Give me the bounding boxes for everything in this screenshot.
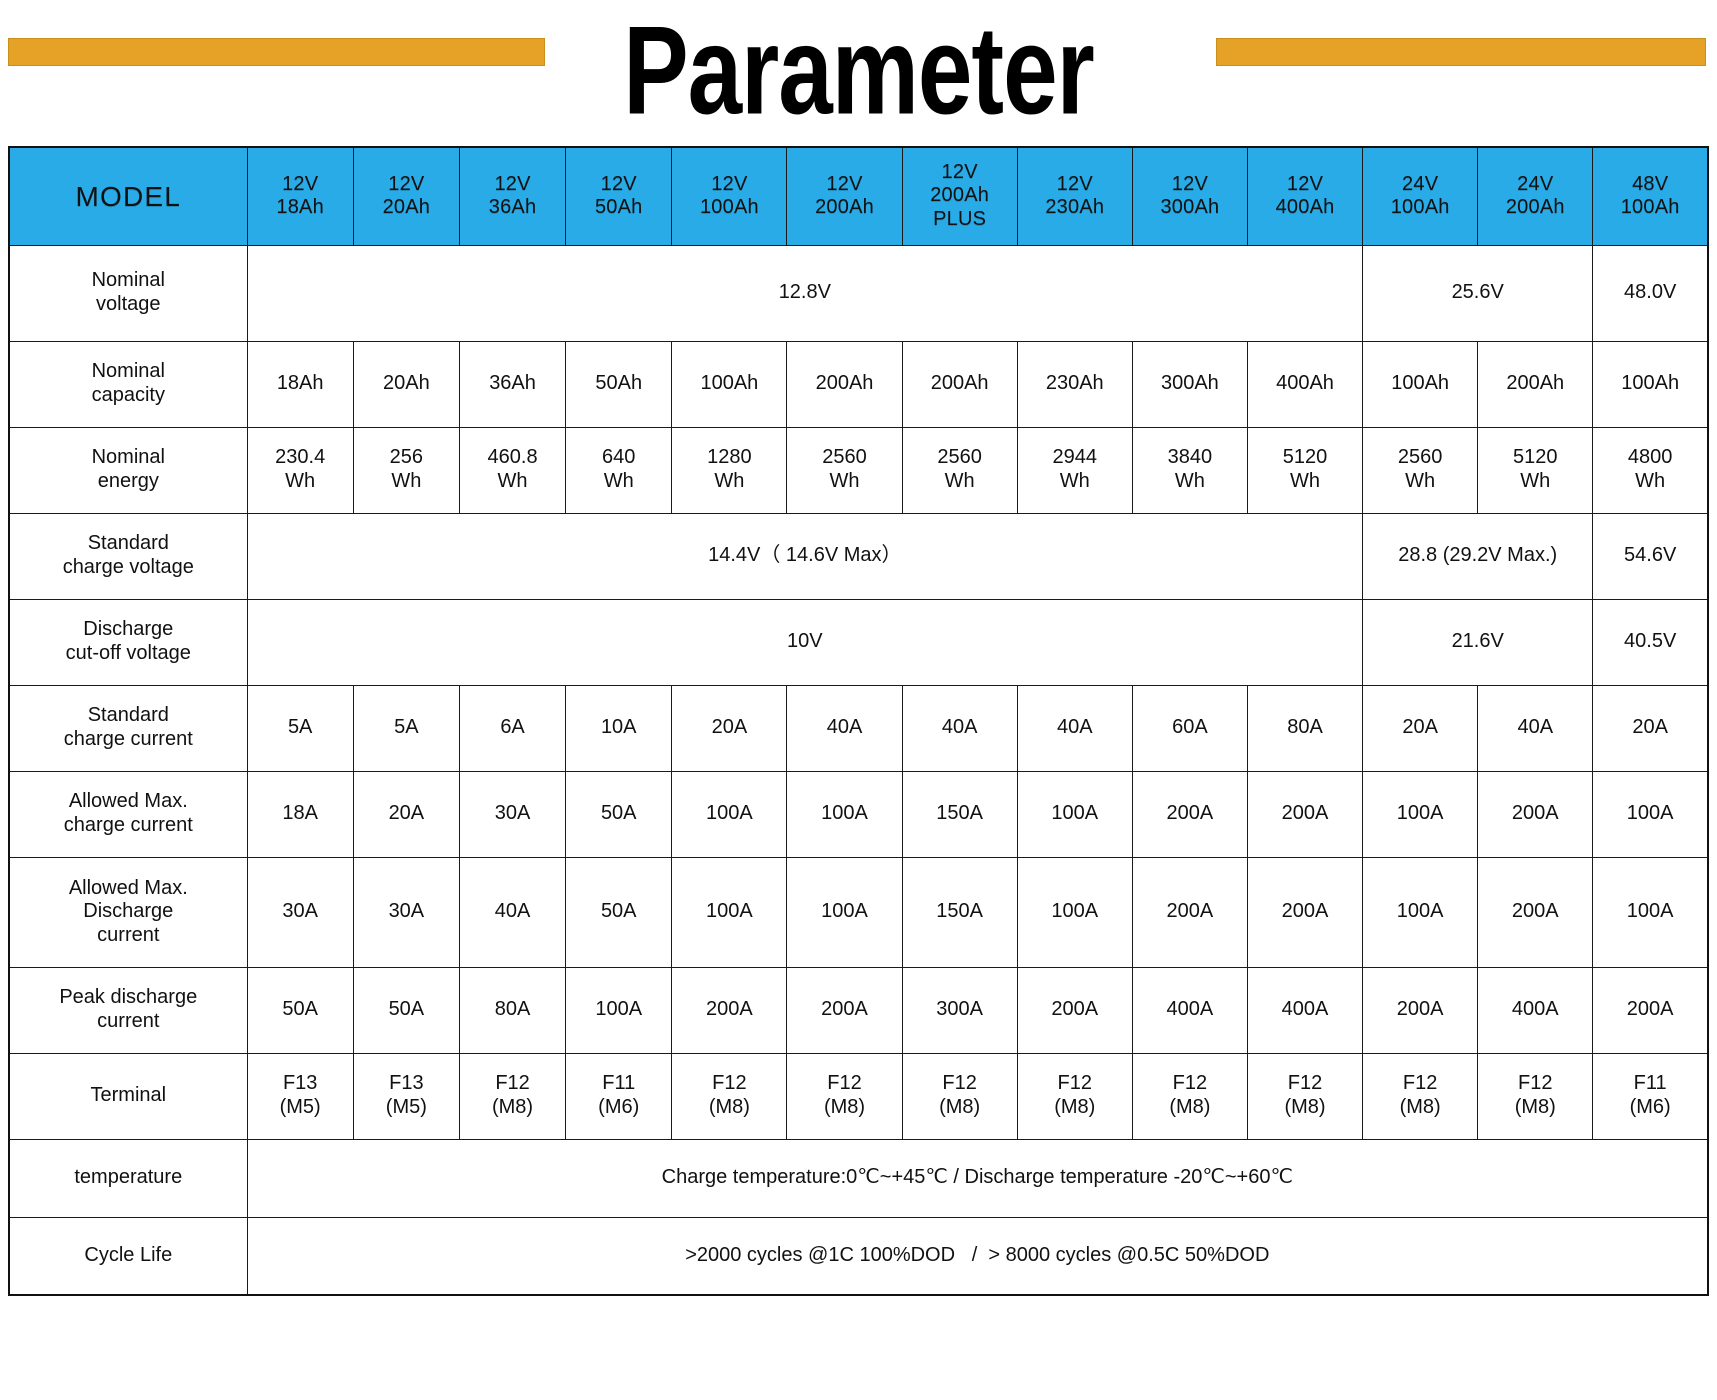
- header-col-2: 12V 36Ah: [459, 147, 565, 245]
- cell-pdc-10: 200A: [1363, 967, 1478, 1053]
- cell-energy-8: 3840 Wh: [1132, 427, 1247, 513]
- label-line: energy: [11, 470, 246, 494]
- cell-energy-1: 256 Wh: [353, 427, 459, 513]
- cell-capacity-6: 200Ah: [902, 341, 1017, 427]
- table-row-allowed-max-charge-current: Allowed Max. charge current 18A 20A 30A …: [9, 771, 1708, 857]
- cell-pdc-4: 200A: [672, 967, 787, 1053]
- label-line: charge current: [11, 814, 246, 838]
- energy-value: 2560: [1364, 446, 1476, 470]
- table-row-standard-charge-voltage: Standard charge voltage 14.4V（ 14.6V Max…: [9, 513, 1708, 599]
- label-line: Cycle Life: [11, 1244, 246, 1268]
- cell-energy-2: 460.8 Wh: [459, 427, 565, 513]
- cell-scc-2: 6A: [459, 685, 565, 771]
- row-label-allowed-max-discharge-current: Allowed Max. Discharge current: [9, 857, 247, 967]
- cell-scc-8: 60A: [1132, 685, 1247, 771]
- title-band: Parameter: [0, 0, 1717, 140]
- cell-scc-10: 20A: [1363, 685, 1478, 771]
- cell-energy-7: 2944 Wh: [1017, 427, 1132, 513]
- cell-terminal-11: F12 (M8): [1478, 1053, 1593, 1139]
- table-row-nominal-voltage: Nominal voltage 12.8V 25.6V 48.0V: [9, 245, 1708, 341]
- terminal-type: F12: [1134, 1072, 1246, 1096]
- header-voltage: 12V: [461, 173, 564, 197]
- cell-energy-11: 5120 Wh: [1478, 427, 1593, 513]
- terminal-size: (M8): [1019, 1096, 1131, 1120]
- terminal-size: (M5): [355, 1096, 458, 1120]
- table-row-peak-discharge-current: Peak discharge current 50A 50A 80A 100A …: [9, 967, 1708, 1053]
- label-line: Allowed Max.: [11, 877, 246, 901]
- header-capacity: 300Ah: [1134, 196, 1246, 220]
- terminal-size: (M8): [673, 1096, 785, 1120]
- cell-capacity-0: 18Ah: [247, 341, 353, 427]
- header-voltage: 12V: [567, 173, 670, 197]
- cell-scc-7: 40A: [1017, 685, 1132, 771]
- cell-terminal-7: F12 (M8): [1017, 1053, 1132, 1139]
- terminal-type: F12: [461, 1072, 564, 1096]
- terminal-size: (M8): [788, 1096, 900, 1120]
- terminal-size: (M6): [567, 1096, 670, 1120]
- energy-unit: Wh: [1479, 470, 1591, 494]
- header-capacity: 200Ah: [788, 196, 900, 220]
- header-voltage: 48V: [1594, 173, 1706, 197]
- terminal-type: F12: [1364, 1072, 1476, 1096]
- header-col-6: 12V 200Ah PLUS: [902, 147, 1017, 245]
- header-voltage: 12V: [1019, 173, 1131, 197]
- cell-pdc-3: 100A: [566, 967, 672, 1053]
- cell-terminal-12: F11 (M6): [1593, 1053, 1708, 1139]
- cell-amdc-5: 100A: [787, 857, 902, 967]
- cell-amdc-0: 30A: [247, 857, 353, 967]
- cell-standard-charge-voltage-12v: 14.4V（ 14.6V Max）: [247, 513, 1363, 599]
- terminal-type: F11: [1594, 1072, 1706, 1096]
- cell-pdc-9: 400A: [1247, 967, 1362, 1053]
- header-capacity: 400Ah: [1249, 196, 1361, 220]
- header-capacity: 18Ah: [249, 196, 352, 220]
- header-voltage: 12V: [1134, 173, 1246, 197]
- energy-value: 2560: [904, 446, 1016, 470]
- terminal-size: (M8): [1364, 1096, 1476, 1120]
- table-row-standard-charge-current: Standard charge current 5A 5A 6A 10A 20A…: [9, 685, 1708, 771]
- row-label-peak-discharge-current: Peak discharge current: [9, 967, 247, 1053]
- cell-pdc-2: 80A: [459, 967, 565, 1053]
- label-line: charge current: [11, 728, 246, 752]
- terminal-size: (M5): [249, 1096, 352, 1120]
- terminal-type: F12: [904, 1072, 1016, 1096]
- header-capacity: 20Ah: [355, 196, 458, 220]
- accent-rule-left: [8, 38, 545, 66]
- cell-capacity-5: 200Ah: [787, 341, 902, 427]
- cell-terminal-1: F13 (M5): [353, 1053, 459, 1139]
- cell-amcc-12: 100A: [1593, 771, 1708, 857]
- header-col-8: 12V 300Ah: [1132, 147, 1247, 245]
- energy-unit: Wh: [1594, 470, 1706, 494]
- energy-unit: Wh: [461, 470, 564, 494]
- cell-scc-3: 10A: [566, 685, 672, 771]
- terminal-size: (M8): [1249, 1096, 1361, 1120]
- label-line: Allowed Max.: [11, 790, 246, 814]
- page-title: Parameter: [597, 7, 1119, 132]
- cell-terminal-8: F12 (M8): [1132, 1053, 1247, 1139]
- cell-amdc-3: 50A: [566, 857, 672, 967]
- cell-discharge-cutoff-24v: 21.6V: [1363, 599, 1593, 685]
- energy-unit: Wh: [249, 470, 352, 494]
- cell-amdc-8: 200A: [1132, 857, 1247, 967]
- terminal-type: F12: [673, 1072, 785, 1096]
- table-row-temperature: temperature Charge temperature:0℃~+45℃ /…: [9, 1139, 1708, 1217]
- header-col-10: 24V 100Ah: [1363, 147, 1478, 245]
- terminal-type: F11: [567, 1072, 670, 1096]
- cell-energy-3: 640 Wh: [566, 427, 672, 513]
- energy-value: 5120: [1479, 446, 1591, 470]
- header-col-11: 24V 200Ah: [1478, 147, 1593, 245]
- cell-nominal-voltage-24v: 25.6V: [1363, 245, 1593, 341]
- header-capacity: 230Ah: [1019, 196, 1131, 220]
- cell-pdc-7: 200A: [1017, 967, 1132, 1053]
- cell-scc-5: 40A: [787, 685, 902, 771]
- header-voltage: 12V: [355, 173, 458, 197]
- cell-scc-1: 5A: [353, 685, 459, 771]
- cell-discharge-cutoff-48v: 40.5V: [1593, 599, 1708, 685]
- header-capacity: 36Ah: [461, 196, 564, 220]
- terminal-type: F12: [1249, 1072, 1361, 1096]
- cell-temperature-merged: Charge temperature:0℃~+45℃ / Discharge t…: [247, 1139, 1708, 1217]
- cell-pdc-5: 200A: [787, 967, 902, 1053]
- label-line: cut-off voltage: [11, 642, 246, 666]
- cell-energy-9: 5120 Wh: [1247, 427, 1362, 513]
- header-voltage: 24V: [1364, 173, 1476, 197]
- cell-capacity-7: 230Ah: [1017, 341, 1132, 427]
- cell-terminal-4: F12 (M8): [672, 1053, 787, 1139]
- energy-unit: Wh: [1249, 470, 1361, 494]
- table-row-nominal-energy: Nominal energy 230.4 Wh 256 Wh 460.8 Wh: [9, 427, 1708, 513]
- cell-amdc-9: 200A: [1247, 857, 1362, 967]
- header-col-7: 12V 230Ah: [1017, 147, 1132, 245]
- energy-value: 2560: [788, 446, 900, 470]
- cell-terminal-2: F12 (M8): [459, 1053, 565, 1139]
- header-capacity: 50Ah: [567, 196, 670, 220]
- cell-scc-11: 40A: [1478, 685, 1593, 771]
- cell-amcc-9: 200A: [1247, 771, 1362, 857]
- header-voltage: 12V: [1249, 173, 1361, 197]
- accent-rule-right: [1216, 38, 1706, 66]
- cell-scc-9: 80A: [1247, 685, 1362, 771]
- terminal-type: F13: [249, 1072, 352, 1096]
- header-voltage: 24V: [1479, 173, 1591, 197]
- header-capacity: 100Ah: [1364, 196, 1476, 220]
- cell-capacity-12: 100Ah: [1593, 341, 1708, 427]
- terminal-type: F12: [1019, 1072, 1131, 1096]
- header-col-9: 12V 400Ah: [1247, 147, 1362, 245]
- cell-terminal-10: F12 (M8): [1363, 1053, 1478, 1139]
- label-line: Nominal: [11, 446, 246, 470]
- cell-pdc-0: 50A: [247, 967, 353, 1053]
- cell-nominal-voltage-12v: 12.8V: [247, 245, 1363, 341]
- cell-terminal-0: F13 (M5): [247, 1053, 353, 1139]
- table-row-nominal-capacity: Nominal capacity 18Ah 20Ah 36Ah 50Ah 100…: [9, 341, 1708, 427]
- row-label-cycle-life: Cycle Life: [9, 1217, 247, 1295]
- cell-amdc-11: 200A: [1478, 857, 1593, 967]
- cell-capacity-11: 200Ah: [1478, 341, 1593, 427]
- cell-terminal-6: F12 (M8): [902, 1053, 1017, 1139]
- cell-pdc-11: 400A: [1478, 967, 1593, 1053]
- header-col-12: 48V 100Ah: [1593, 147, 1708, 245]
- cell-cycle-life-merged: >2000 cycles @1C 100%DOD / > 8000 cycles…: [247, 1217, 1708, 1295]
- energy-value: 5120: [1249, 446, 1361, 470]
- cell-amcc-1: 20A: [353, 771, 459, 857]
- row-label-temperature: temperature: [9, 1139, 247, 1217]
- cell-capacity-1: 20Ah: [353, 341, 459, 427]
- energy-unit: Wh: [673, 470, 785, 494]
- header-voltage: 12V: [904, 161, 1016, 185]
- label-line: Nominal: [11, 269, 246, 293]
- row-label-nominal-voltage: Nominal voltage: [9, 245, 247, 341]
- cell-energy-0: 230.4 Wh: [247, 427, 353, 513]
- parameter-spec-page: Parameter MODEL 12V 18Ah 12V: [0, 0, 1717, 1400]
- terminal-type: F13: [355, 1072, 458, 1096]
- spec-table-wrap: MODEL 12V 18Ah 12V 20Ah 12V 36Ah 12V: [8, 146, 1709, 1296]
- cell-amcc-5: 100A: [787, 771, 902, 857]
- table-row-allowed-max-discharge-current: Allowed Max. Discharge current 30A 30A 4…: [9, 857, 1708, 967]
- cell-amdc-2: 40A: [459, 857, 565, 967]
- label-line: Nominal: [11, 360, 246, 384]
- energy-value: 3840: [1134, 446, 1246, 470]
- energy-value: 4800: [1594, 446, 1706, 470]
- cell-discharge-cutoff-12v: 10V: [247, 599, 1363, 685]
- cell-scc-6: 40A: [902, 685, 1017, 771]
- header-col-5: 12V 200Ah: [787, 147, 902, 245]
- cell-capacity-4: 100Ah: [672, 341, 787, 427]
- cell-scc-0: 5A: [247, 685, 353, 771]
- cell-amcc-10: 100A: [1363, 771, 1478, 857]
- energy-unit: Wh: [1134, 470, 1246, 494]
- header-voltage: 12V: [249, 173, 352, 197]
- cell-terminal-5: F12 (M8): [787, 1053, 902, 1139]
- header-voltage: 12V: [788, 173, 900, 197]
- cell-amdc-10: 100A: [1363, 857, 1478, 967]
- header-model: MODEL: [9, 147, 247, 245]
- cell-capacity-10: 100Ah: [1363, 341, 1478, 427]
- row-label-standard-charge-current: Standard charge current: [9, 685, 247, 771]
- terminal-size: (M8): [1479, 1096, 1591, 1120]
- header-capacity: 100Ah: [673, 196, 785, 220]
- energy-value: 640: [567, 446, 670, 470]
- label-line: temperature: [11, 1166, 246, 1190]
- cell-amdc-1: 30A: [353, 857, 459, 967]
- terminal-size: (M8): [904, 1096, 1016, 1120]
- row-label-allowed-max-charge-current: Allowed Max. charge current: [9, 771, 247, 857]
- header-col-4: 12V 100Ah: [672, 147, 787, 245]
- cell-pdc-6: 300A: [902, 967, 1017, 1053]
- energy-unit: Wh: [788, 470, 900, 494]
- header-row: MODEL 12V 18Ah 12V 20Ah 12V 36Ah 12V: [9, 147, 1708, 245]
- energy-unit: Wh: [355, 470, 458, 494]
- cell-pdc-12: 200A: [1593, 967, 1708, 1053]
- energy-value: 256: [355, 446, 458, 470]
- cell-amcc-4: 100A: [672, 771, 787, 857]
- terminal-size: (M6): [1594, 1096, 1706, 1120]
- header-capacity: 200Ah: [1479, 196, 1591, 220]
- cell-amcc-2: 30A: [459, 771, 565, 857]
- cell-standard-charge-voltage-48v: 54.6V: [1593, 513, 1708, 599]
- cell-pdc-1: 50A: [353, 967, 459, 1053]
- energy-value: 2944: [1019, 446, 1131, 470]
- header-capacity: 200Ah: [904, 184, 1016, 208]
- cell-amcc-7: 100A: [1017, 771, 1132, 857]
- label-line: current: [11, 924, 246, 948]
- terminal-type: F12: [788, 1072, 900, 1096]
- cell-energy-5: 2560 Wh: [787, 427, 902, 513]
- header-col-3: 12V 50Ah: [566, 147, 672, 245]
- cell-capacity-3: 50Ah: [566, 341, 672, 427]
- energy-unit: Wh: [567, 470, 670, 494]
- header-col-0: 12V 18Ah: [247, 147, 353, 245]
- cell-amcc-0: 18A: [247, 771, 353, 857]
- energy-value: 460.8: [461, 446, 564, 470]
- row-label-standard-charge-voltage: Standard charge voltage: [9, 513, 247, 599]
- cell-terminal-3: F11 (M6): [566, 1053, 672, 1139]
- cell-standard-charge-voltage-24v: 28.8 (29.2V Max.): [1363, 513, 1593, 599]
- terminal-size: (M8): [1134, 1096, 1246, 1120]
- row-label-nominal-capacity: Nominal capacity: [9, 341, 247, 427]
- cell-amdc-12: 100A: [1593, 857, 1708, 967]
- cell-capacity-8: 300Ah: [1132, 341, 1247, 427]
- energy-value: 230.4: [249, 446, 352, 470]
- table-header: MODEL 12V 18Ah 12V 20Ah 12V 36Ah 12V: [9, 147, 1708, 245]
- label-line: Standard: [11, 704, 246, 728]
- cell-energy-12: 4800 Wh: [1593, 427, 1708, 513]
- label-line: Terminal: [11, 1084, 246, 1108]
- row-label-nominal-energy: Nominal energy: [9, 427, 247, 513]
- energy-unit: Wh: [904, 470, 1016, 494]
- energy-value: 1280: [673, 446, 785, 470]
- cell-energy-6: 2560 Wh: [902, 427, 1017, 513]
- table-body: Nominal voltage 12.8V 25.6V 48.0V Nomina…: [9, 245, 1708, 1295]
- row-label-discharge-cutoff-voltage: Discharge cut-off voltage: [9, 599, 247, 685]
- label-line: Discharge: [11, 900, 246, 924]
- header-voltage: 12V: [673, 173, 785, 197]
- label-line: Standard: [11, 532, 246, 556]
- cell-capacity-2: 36Ah: [459, 341, 565, 427]
- cell-scc-4: 20A: [672, 685, 787, 771]
- row-label-terminal: Terminal: [9, 1053, 247, 1139]
- label-line: Discharge: [11, 618, 246, 642]
- cell-amdc-6: 150A: [902, 857, 1017, 967]
- table-row-discharge-cutoff-voltage: Discharge cut-off voltage 10V 21.6V 40.5…: [9, 599, 1708, 685]
- cell-energy-4: 1280 Wh: [672, 427, 787, 513]
- header-capacity: 100Ah: [1594, 196, 1706, 220]
- label-line: charge voltage: [11, 556, 246, 580]
- cell-amdc-4: 100A: [672, 857, 787, 967]
- cell-nominal-voltage-48v: 48.0V: [1593, 245, 1708, 341]
- label-line: Peak discharge: [11, 986, 246, 1010]
- cell-amcc-3: 50A: [566, 771, 672, 857]
- header-col-1: 12V 20Ah: [353, 147, 459, 245]
- cell-amcc-6: 150A: [902, 771, 1017, 857]
- label-line: current: [11, 1010, 246, 1034]
- table-row-terminal: Terminal F13 (M5) F13 (M5) F12 (M8): [9, 1053, 1708, 1139]
- terminal-type: F12: [1479, 1072, 1591, 1096]
- parameter-spec-table: MODEL 12V 18Ah 12V 20Ah 12V 36Ah 12V: [8, 146, 1709, 1296]
- cell-scc-12: 20A: [1593, 685, 1708, 771]
- cell-amdc-7: 100A: [1017, 857, 1132, 967]
- cell-terminal-9: F12 (M8): [1247, 1053, 1362, 1139]
- cell-amcc-8: 200A: [1132, 771, 1247, 857]
- energy-unit: Wh: [1364, 470, 1476, 494]
- label-line: voltage: [11, 293, 246, 317]
- cell-pdc-8: 400A: [1132, 967, 1247, 1053]
- terminal-size: (M8): [461, 1096, 564, 1120]
- energy-unit: Wh: [1019, 470, 1131, 494]
- cell-capacity-9: 400Ah: [1247, 341, 1362, 427]
- cell-amcc-11: 200A: [1478, 771, 1593, 857]
- label-line: capacity: [11, 384, 246, 408]
- header-suffix: PLUS: [904, 208, 1016, 232]
- cell-energy-10: 2560 Wh: [1363, 427, 1478, 513]
- table-row-cycle-life: Cycle Life >2000 cycles @1C 100%DOD / > …: [9, 1217, 1708, 1295]
